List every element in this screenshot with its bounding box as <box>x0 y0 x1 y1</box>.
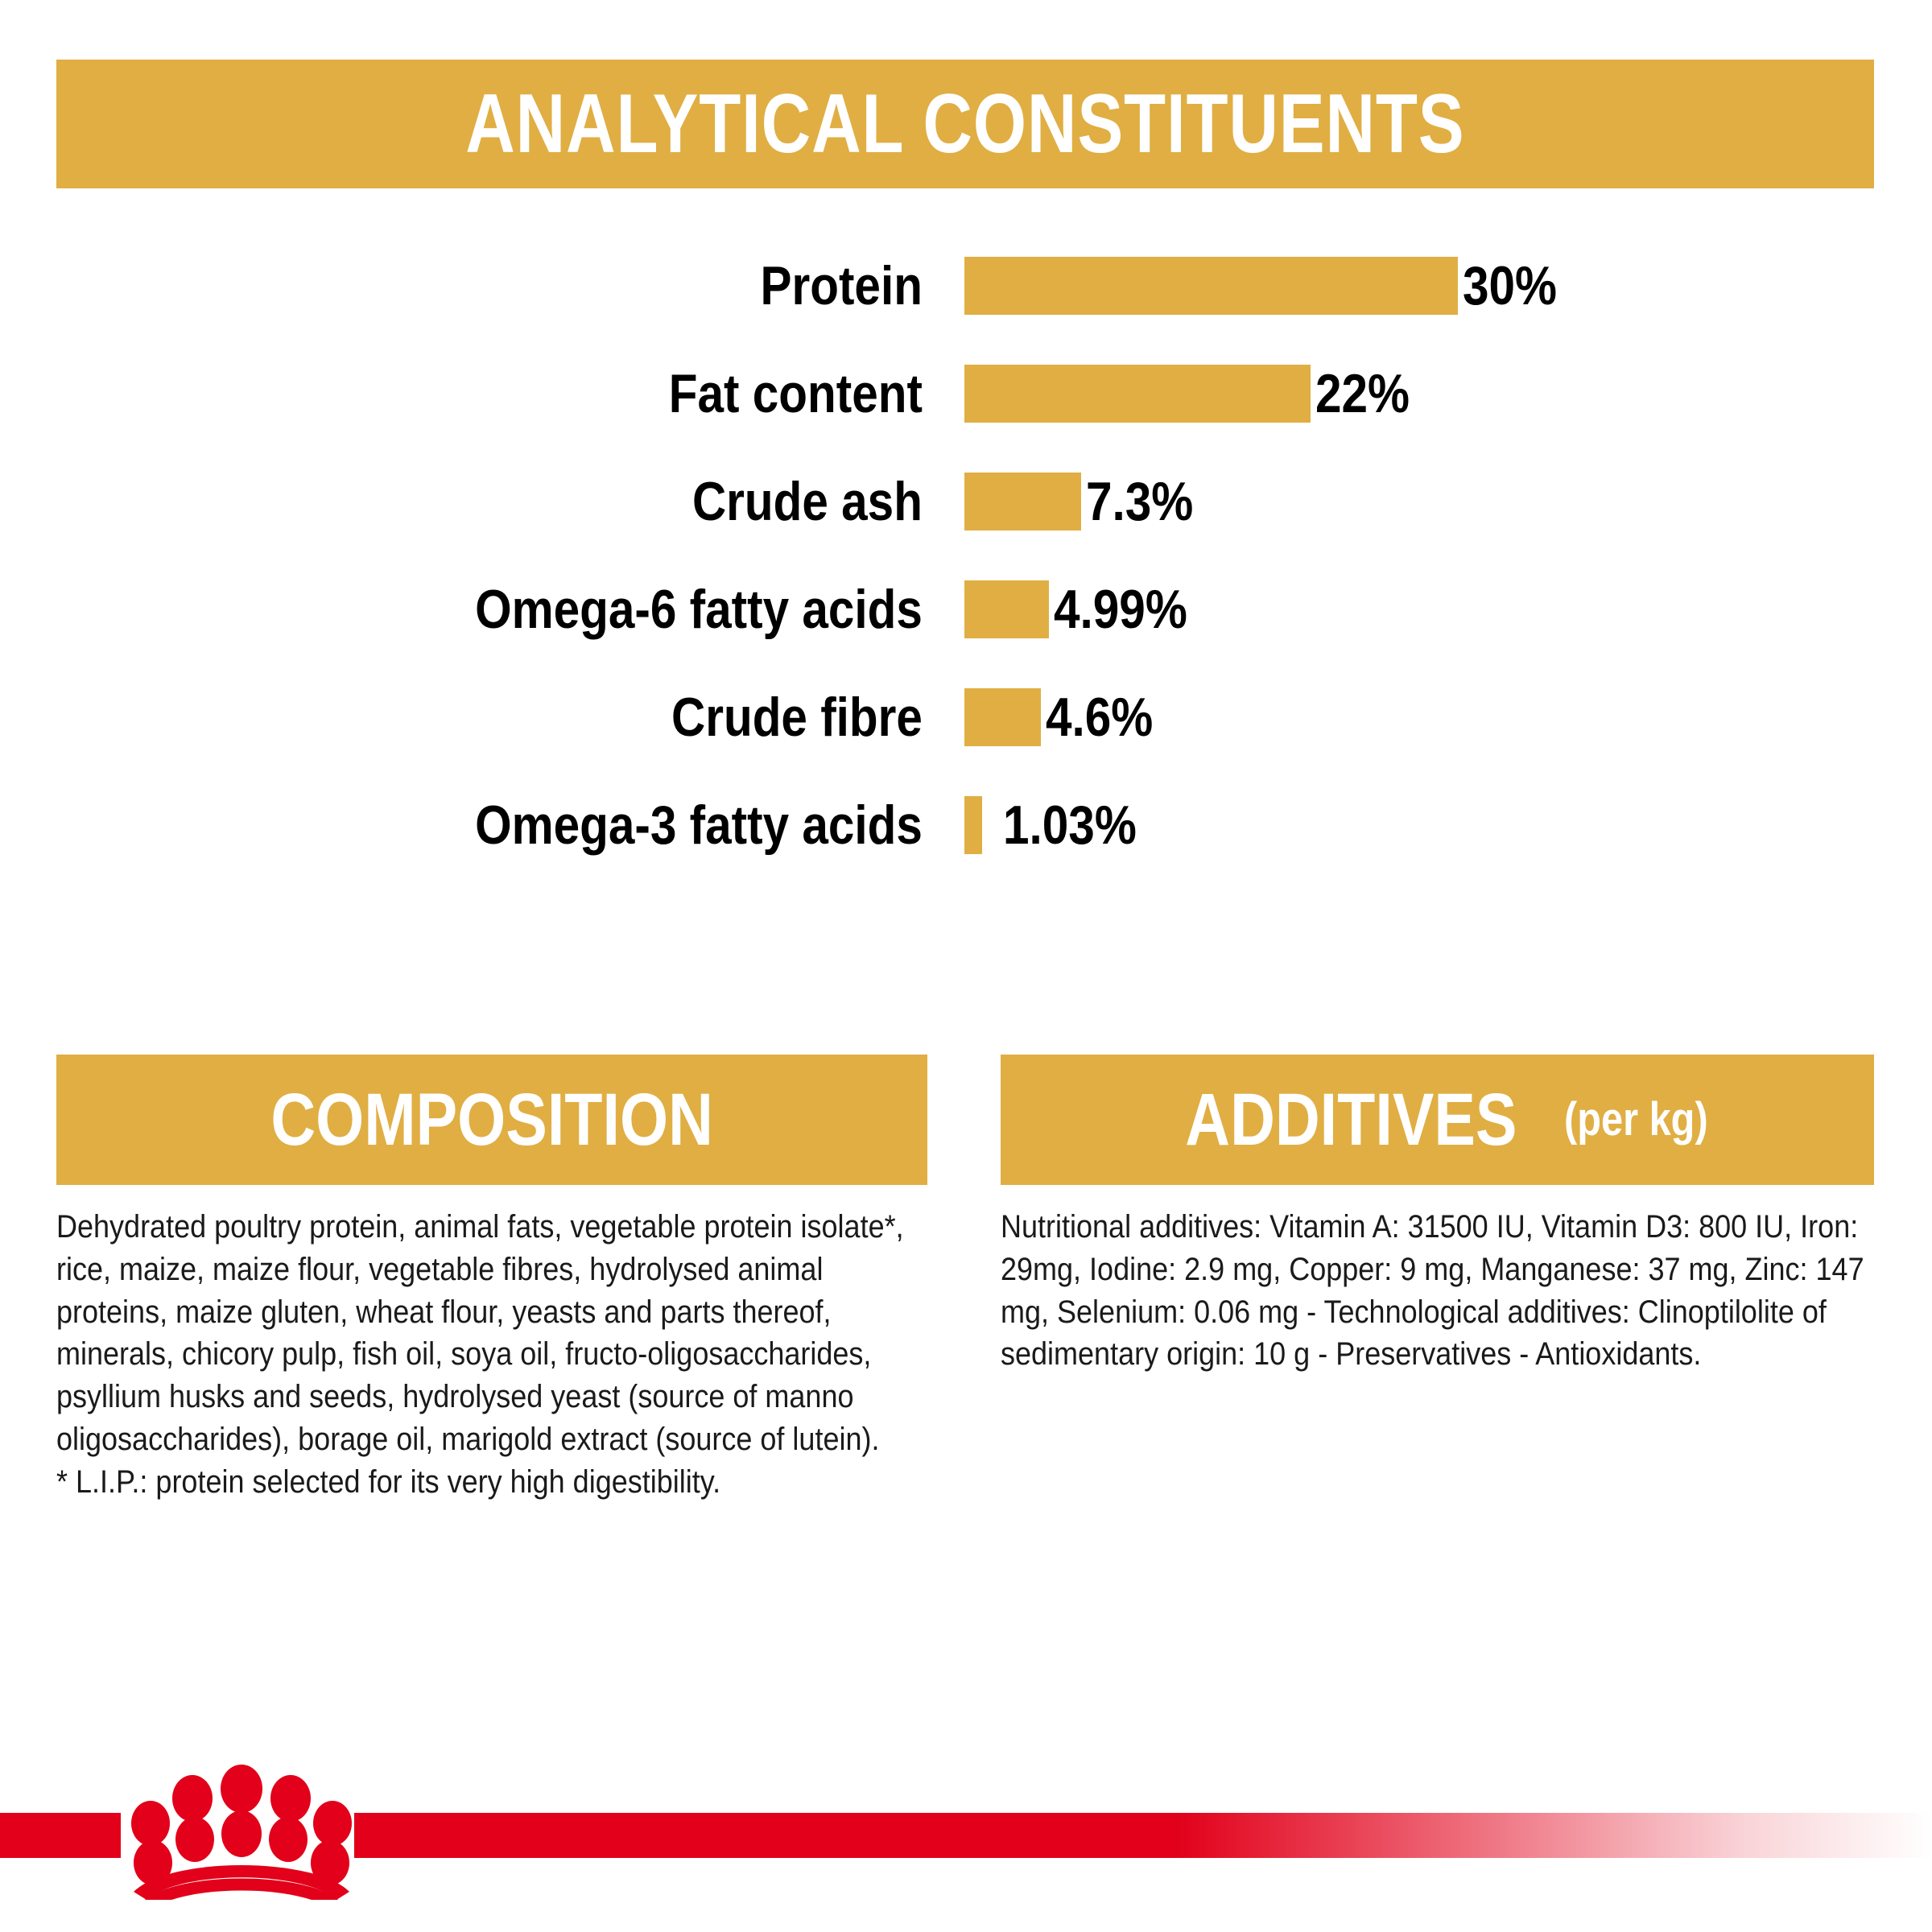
chart-bar-zone: 7.3% <box>964 465 1211 538</box>
chart-row: Fat content22% <box>0 357 1932 430</box>
chart-row-label: Crude fibre <box>132 690 942 745</box>
chart-row: Omega-6 fatty acids4.99% <box>0 573 1932 646</box>
chart-bar <box>964 688 1041 746</box>
chart-row: Omega-3 fatty acids1.03% <box>0 789 1932 861</box>
royal-canin-crown-icon <box>129 1763 354 1900</box>
chart-bar-zone: 22% <box>964 357 1425 430</box>
chart-row-label: Protein <box>132 258 942 313</box>
composition-header: COMPOSITION <box>56 1055 927 1185</box>
chart-row-label: Fat content <box>132 366 942 421</box>
chart-bar-zone: 4.99% <box>964 573 1209 646</box>
body-paragraph: Dehydrated poultry protein, animal fats,… <box>56 1206 927 1461</box>
composition-header-label: COMPOSITION <box>270 1083 713 1157</box>
chart-row: Crude ash7.3% <box>0 465 1932 538</box>
additives-header: ADDITIVES (per kg) <box>1001 1055 1874 1185</box>
analytical-constituents-chart: Protein30%Fat content22%Crude ash7.3%Ome… <box>0 250 1932 897</box>
additives-header-label: ADDITIVES <box>1185 1083 1517 1157</box>
chart-row-label: Crude ash <box>132 474 942 529</box>
chart-value-label: 7.3% <box>1086 474 1193 529</box>
footer-bar-right <box>354 1813 1932 1858</box>
chart-bar <box>964 365 1311 423</box>
chart-bar <box>964 796 982 854</box>
additives-section: ADDITIVES (per kg) Nutritional additives… <box>1001 1055 1874 1376</box>
chart-value-label: 4.99% <box>1054 582 1187 637</box>
chart-row: Protein30% <box>0 250 1932 322</box>
chart-bar <box>964 473 1081 530</box>
page-title: ANALYTICAL CONSTITUENTS <box>465 82 1464 166</box>
chart-row-label: Omega-3 fatty acids <box>132 798 942 852</box>
chart-bar-zone: 1.03% <box>964 789 1158 861</box>
body-paragraph: * L.I.P.: protein selected for its very … <box>56 1461 927 1504</box>
chart-bar <box>964 257 1458 315</box>
additives-body: Nutritional additives: Vitamin A: 31500 … <box>1001 1206 1873 1376</box>
chart-value-label: 4.6% <box>1046 690 1153 745</box>
chart-bar-zone: 30% <box>964 250 1572 322</box>
composition-section: COMPOSITION Dehydrated poultry protein, … <box>56 1055 927 1504</box>
additives-header-unit: (per kg) <box>1564 1096 1708 1143</box>
composition-body: Dehydrated poultry protein, animal fats,… <box>56 1206 927 1504</box>
footer <box>0 1813 1932 1861</box>
footer-bar-left <box>0 1813 121 1858</box>
chart-value-label: 1.03% <box>1003 798 1137 852</box>
chart-row: Crude fibre4.6% <box>0 681 1932 753</box>
chart-row-label: Omega-6 fatty acids <box>132 582 942 637</box>
chart-bar <box>964 580 1049 638</box>
chart-value-label: 30% <box>1463 258 1557 313</box>
chart-bar-zone: 4.6% <box>964 681 1170 753</box>
body-paragraph: Nutritional additives: Vitamin A: 31500 … <box>1001 1206 1873 1376</box>
analytical-constituents-banner: ANALYTICAL CONSTITUENTS <box>56 60 1874 188</box>
chart-value-label: 22% <box>1315 366 1410 421</box>
